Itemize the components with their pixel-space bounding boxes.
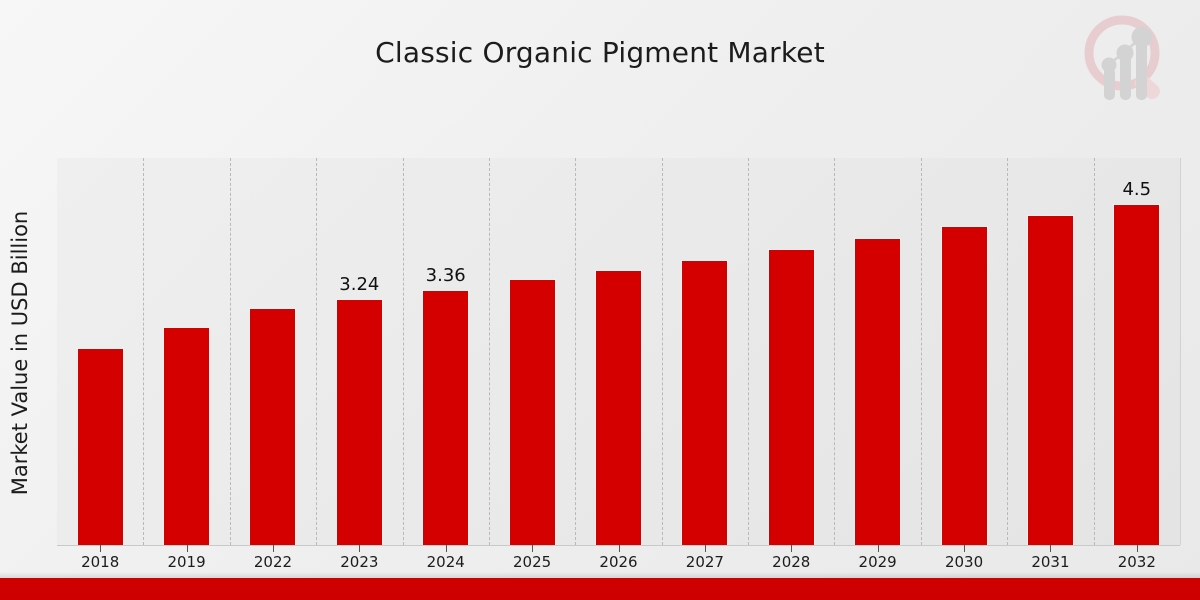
x-tick	[100, 545, 101, 552]
x-tick	[187, 545, 188, 552]
bottom-accent-band	[0, 578, 1200, 600]
x-tick-label-2023: 2023	[316, 553, 402, 571]
x-tick	[446, 545, 447, 552]
x-tick-label-2031: 2031	[1007, 553, 1093, 571]
x-tick-label-2018: 2018	[57, 553, 143, 571]
x-tick	[273, 545, 274, 552]
x-tick	[791, 545, 792, 552]
x-tick-label-2029: 2029	[835, 553, 921, 571]
gridline	[489, 158, 490, 545]
x-tick	[532, 545, 533, 552]
x-tick-label-2026: 2026	[576, 553, 662, 571]
bar-2026[interactable]	[595, 270, 642, 545]
gridline	[1094, 158, 1095, 545]
x-tick-label-2019: 2019	[144, 553, 230, 571]
bar-2024[interactable]	[422, 290, 469, 545]
bar-2022[interactable]	[249, 308, 296, 545]
x-tick	[878, 545, 879, 552]
x-tick	[964, 545, 965, 552]
bar-2029[interactable]	[854, 238, 901, 545]
bar-value-label-2032: 4.5	[1097, 179, 1177, 200]
chart-figure: Classic Organic Pigment Market Market Va…	[0, 0, 1200, 600]
x-tick-label-2030: 2030	[921, 553, 1007, 571]
gridline	[230, 158, 231, 545]
x-tick	[1050, 545, 1051, 552]
gridline	[1007, 158, 1008, 545]
x-tick-label-2025: 2025	[489, 553, 575, 571]
x-tick	[359, 545, 360, 552]
bar-2018[interactable]	[77, 348, 124, 545]
gridline	[316, 158, 317, 545]
gridline	[921, 158, 922, 545]
bar-2019[interactable]	[163, 327, 210, 545]
x-tick	[705, 545, 706, 552]
gridline	[662, 158, 663, 545]
gridline	[143, 158, 144, 545]
y-axis-label-container: Market Value in USD Billion	[0, 160, 40, 546]
y-axis-label: Market Value in USD Billion	[8, 211, 32, 495]
bar-value-label-2023: 3.24	[319, 274, 399, 295]
page-title: Classic Organic Pigment Market	[0, 36, 1200, 69]
x-tick-label-2024: 2024	[403, 553, 489, 571]
gridline	[834, 158, 835, 545]
bar-2028[interactable]	[768, 249, 815, 545]
bar-2030[interactable]	[941, 226, 988, 545]
x-tick-label-2028: 2028	[748, 553, 834, 571]
x-tick-label-2027: 2027	[662, 553, 748, 571]
bar-value-label-2024: 3.36	[406, 265, 486, 286]
x-tick-label-2032: 2032	[1094, 553, 1180, 571]
bar-2027[interactable]	[681, 260, 728, 545]
gridline	[748, 158, 749, 545]
x-tick	[1137, 545, 1138, 552]
bar-2032[interactable]	[1113, 204, 1160, 545]
x-tick-label-2022: 2022	[230, 553, 316, 571]
gridline	[403, 158, 404, 545]
bar-2031[interactable]	[1027, 215, 1074, 545]
x-tick	[619, 545, 620, 552]
plot-area: 3.243.364.5	[57, 158, 1181, 545]
bar-2025[interactable]	[509, 279, 556, 545]
bar-2023[interactable]	[336, 299, 383, 545]
gridline	[575, 158, 576, 545]
